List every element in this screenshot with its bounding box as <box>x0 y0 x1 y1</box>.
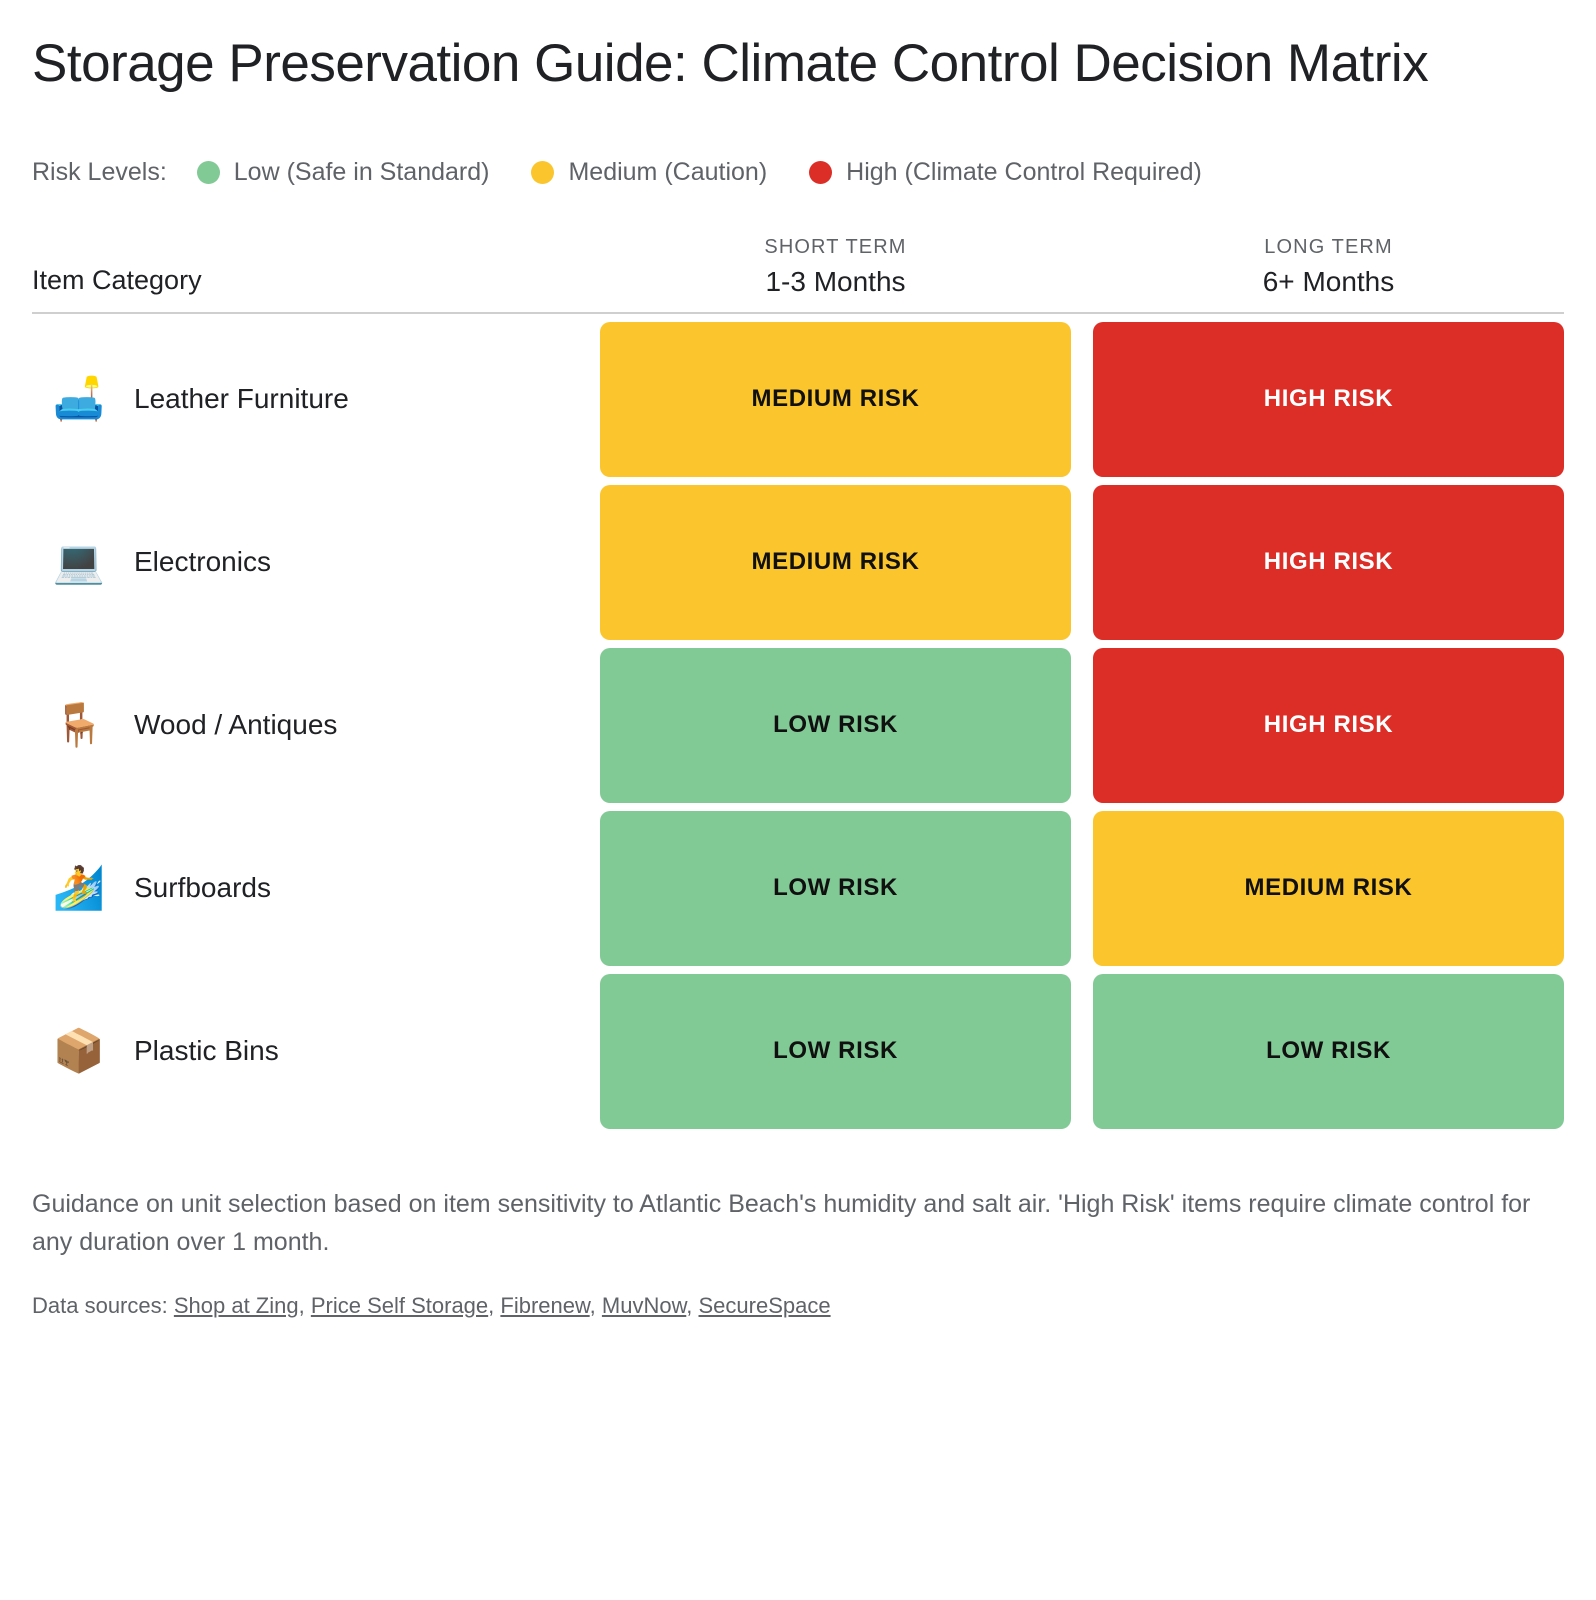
column-header-short-term-range: 1-3 Months <box>600 266 1071 298</box>
risk-cell-surfboards-short-term[interactable]: LOW RISK <box>600 811 1071 966</box>
footer-note: Guidance on unit selection based on item… <box>32 1185 1532 1261</box>
legend-label-high: High (Climate Control Required) <box>846 158 1202 187</box>
row-label-plastic-bins: 📦 Plastic Bins <box>32 1030 600 1072</box>
source-separator-4: , <box>686 1293 698 1318</box>
surfer-icon: 🏄 <box>50 867 108 909</box>
source-link-securespace[interactable]: SecureSpace <box>699 1293 831 1318</box>
data-sources: Data sources: Shop at Zing, Price Self S… <box>32 1293 1564 1319</box>
risk-cell-surfboards-long-term[interactable]: MEDIUM RISK <box>1093 811 1564 966</box>
page-title: Storage Preservation Guide: Climate Cont… <box>32 0 1482 98</box>
footer: Guidance on unit selection based on item… <box>32 1185 1564 1319</box>
table-row: 📦 Plastic Bins LOW RISK LOW RISK <box>32 974 1564 1129</box>
row-name-leather-furniture: Leather Furniture <box>134 383 349 415</box>
risk-cell-plastic-bins-long-term[interactable]: LOW RISK <box>1093 974 1564 1129</box>
table-row: 💻 Electronics MEDIUM RISK HIGH RISK <box>32 485 1564 640</box>
legend-item-low: Low (Safe in Standard) <box>197 158 490 187</box>
row-label-wood-antiques: 🪑 Wood / Antiques <box>32 704 600 746</box>
legend-item-medium: Medium (Caution) <box>531 158 767 187</box>
risk-matrix-table: Item Category SHORT TERM 1-3 Months LONG… <box>32 236 1564 1129</box>
source-separator-1: , <box>299 1293 311 1318</box>
legend-label-medium: Medium (Caution) <box>568 158 767 187</box>
column-header-item-category: Item Category <box>32 265 600 298</box>
legend-item-high: High (Climate Control Required) <box>809 158 1202 187</box>
legend-dot-low-icon <box>197 161 220 184</box>
risk-cell-electronics-short-term[interactable]: MEDIUM RISK <box>600 485 1071 640</box>
table-row: 🏄 Surfboards LOW RISK MEDIUM RISK <box>32 811 1564 966</box>
source-link-fibrenew[interactable]: Fibrenew <box>500 1293 589 1318</box>
column-header-long-term-eyebrow: LONG TERM <box>1093 236 1564 259</box>
column-header-short-term-eyebrow: SHORT TERM <box>600 236 1071 259</box>
source-link-price-self-storage[interactable]: Price Self Storage <box>311 1293 488 1318</box>
table-row: 🪑 Wood / Antiques LOW RISK HIGH RISK <box>32 648 1564 803</box>
risk-cell-plastic-bins-short-term[interactable]: LOW RISK <box>600 974 1071 1129</box>
row-label-leather-furniture: 🛋️ Leather Furniture <box>32 378 600 420</box>
column-header-long-term: LONG TERM 6+ Months <box>1093 236 1564 298</box>
source-separator-3: , <box>590 1293 602 1318</box>
risk-cell-electronics-long-term[interactable]: HIGH RISK <box>1093 485 1564 640</box>
legend-title: Risk Levels: <box>32 158 167 187</box>
risk-cell-leather-furniture-short-term[interactable]: MEDIUM RISK <box>600 322 1071 477</box>
package-icon: 📦 <box>50 1030 108 1072</box>
table-row: 🛋️ Leather Furniture MEDIUM RISK HIGH RI… <box>32 322 1564 477</box>
source-link-muvnow[interactable]: MuvNow <box>602 1293 686 1318</box>
source-link-shop-at-zing[interactable]: Shop at Zing <box>174 1293 299 1318</box>
risk-legend: Risk Levels: Low (Safe in Standard) Medi… <box>32 156 1564 190</box>
risk-cell-wood-antiques-long-term[interactable]: HIGH RISK <box>1093 648 1564 803</box>
source-separator-2: , <box>488 1293 500 1318</box>
data-sources-prefix: Data sources: <box>32 1293 168 1318</box>
risk-cell-leather-furniture-long-term[interactable]: HIGH RISK <box>1093 322 1564 477</box>
row-name-electronics: Electronics <box>134 546 271 578</box>
row-label-surfboards: 🏄 Surfboards <box>32 867 600 909</box>
row-label-electronics: 💻 Electronics <box>32 541 600 583</box>
chair-icon: 🪑 <box>50 704 108 746</box>
row-name-wood-antiques: Wood / Antiques <box>134 709 337 741</box>
legend-dot-high-icon <box>809 161 832 184</box>
legend-dot-medium-icon <box>531 161 554 184</box>
couch-and-lamp-icon: 🛋️ <box>50 378 108 420</box>
column-header-short-term: SHORT TERM 1-3 Months <box>600 236 1071 298</box>
laptop-icon: 💻 <box>50 541 108 583</box>
row-name-surfboards: Surfboards <box>134 872 271 904</box>
legend-label-low: Low (Safe in Standard) <box>234 158 490 187</box>
risk-cell-wood-antiques-short-term[interactable]: LOW RISK <box>600 648 1071 803</box>
table-header-row: Item Category SHORT TERM 1-3 Months LONG… <box>32 236 1564 314</box>
column-header-long-term-range: 6+ Months <box>1093 266 1564 298</box>
row-name-plastic-bins: Plastic Bins <box>134 1035 279 1067</box>
storage-preservation-guide-page: Storage Preservation Guide: Climate Cont… <box>0 0 1596 1600</box>
